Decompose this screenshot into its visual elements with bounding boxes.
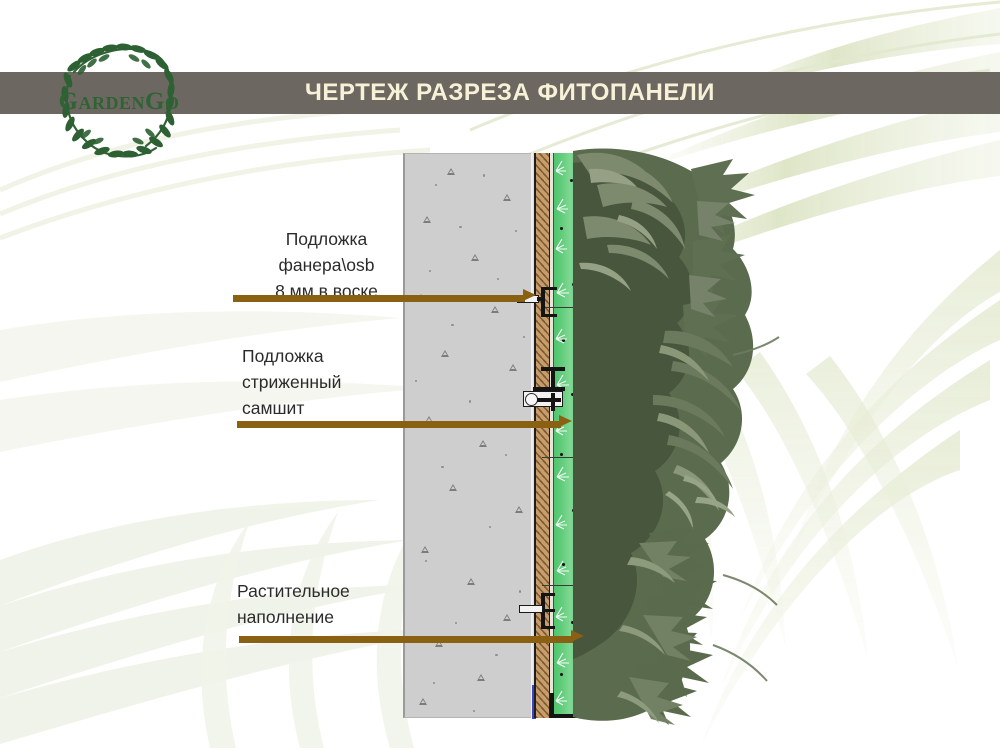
annotation-label-plant-fill: Растительное наполнение [237,578,422,630]
label-line: Подложка [242,343,407,369]
leader-arrow-boxwood [237,418,572,431]
plant-foliage-layer [573,145,815,725]
logo-wordmark: GardenGo [34,84,204,120]
brand-logo[interactable]: GardenGo [34,36,204,166]
leader-arrow-plant-fill [239,633,584,646]
slide-canvas: ЧЕРТЕЖ РАЗРЕЗА ФИТОПАНЕЛИ [0,0,1000,750]
label-line: стриженный [242,369,407,395]
foliage-silhouette-icon [573,145,815,725]
label-line: наполнение [237,604,422,630]
arrow-shaft [233,295,525,302]
arrow-head-icon [523,289,536,301]
leader-arrow-plywood [233,292,536,305]
label-line: Подложка [244,226,409,252]
arrow-shaft [237,421,561,428]
page-title: ЧЕРТЕЖ РАЗРЕЗА ФИТОПАНЕЛИ [250,72,770,114]
arrow-head-icon [559,415,572,427]
annotation-label-boxwood: Подложка стриженный самшит [242,343,407,421]
arrow-shaft [239,636,573,643]
arrow-head-icon [571,630,584,642]
label-line: фанера\osb [244,252,409,278]
label-line: Растительное [237,578,422,604]
